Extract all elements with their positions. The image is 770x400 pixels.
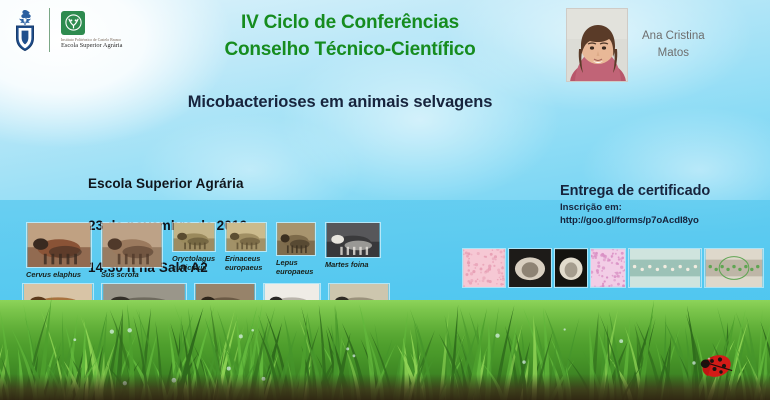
species-photo	[172, 222, 216, 252]
species-item: Cervus elaphus	[26, 222, 92, 279]
species-item: Sus scrofa	[101, 222, 163, 279]
poster-subtitle: Micobacterioses em animais selvagens	[120, 93, 560, 112]
species-item: Lepus europaeus	[276, 222, 316, 276]
conference-poster: Instituto Politécnico de Castelo Branco …	[0, 0, 770, 400]
title-line-2: Conselho Técnico-Científico	[170, 37, 530, 64]
species-label: Cervus elaphus	[26, 270, 92, 279]
species-photo	[101, 222, 163, 268]
lab-image	[554, 248, 588, 288]
lab-image-strip	[462, 248, 764, 288]
ipcb-flower-icon	[61, 11, 85, 35]
speaker-block: Ana Cristina Matos	[566, 8, 705, 82]
species-label: Erinaceus europaeus	[225, 254, 267, 272]
ladybug-icon	[700, 352, 734, 378]
university-crest-icon	[10, 8, 40, 52]
species-item: Erinaceus europaeus	[225, 222, 267, 272]
species-item: Oryctolagus cuniculus	[172, 222, 216, 272]
species-photo	[325, 222, 381, 258]
species-item: Martes foina	[325, 222, 381, 269]
poster-title: IV Ciclo de Conferências Conselho Técnic…	[170, 10, 530, 64]
logo-divider	[49, 8, 50, 52]
lab-image	[508, 248, 552, 288]
species-row-1: Cervus elaphusSus scrofaOryctolagus cuni…	[26, 222, 381, 279]
species-label: Oryctolagus cuniculus	[172, 254, 216, 272]
lab-image	[704, 248, 764, 288]
species-label: Lepus europaeus	[276, 258, 316, 276]
lab-image	[462, 248, 506, 288]
species-photo	[26, 222, 92, 268]
species-label: Martes foina	[325, 260, 381, 269]
soil-band	[0, 374, 770, 400]
lab-image	[628, 248, 702, 288]
speaker-name: Ana Cristina Matos	[642, 28, 705, 63]
certificate-title: Entrega de certificado	[560, 183, 710, 199]
lab-image	[590, 248, 626, 288]
speaker-photo	[566, 8, 628, 82]
species-photo	[276, 222, 316, 256]
title-line-1: IV Ciclo de Conferências	[170, 10, 530, 37]
institute-name-line2: Escola Superior Agrária	[61, 42, 122, 49]
registration-url[interactable]: http://goo.gl/forms/p7oAcdI8yo	[560, 215, 710, 226]
certificate-block: Entrega de certificado Inscrição em: htt…	[560, 183, 710, 226]
species-photo	[225, 222, 267, 252]
event-venue: Escola Superior Agrária	[88, 173, 247, 194]
registration-label: Inscrição em:	[560, 202, 710, 213]
species-label: Sus scrofa	[101, 270, 163, 279]
institute-name-line1: Instituto Politécnico de Castelo Branco	[61, 38, 121, 42]
ipcb-logo: Instituto Politécnico de Castelo Branco …	[61, 11, 122, 50]
branding-logos: Instituto Politécnico de Castelo Branco …	[10, 8, 122, 52]
